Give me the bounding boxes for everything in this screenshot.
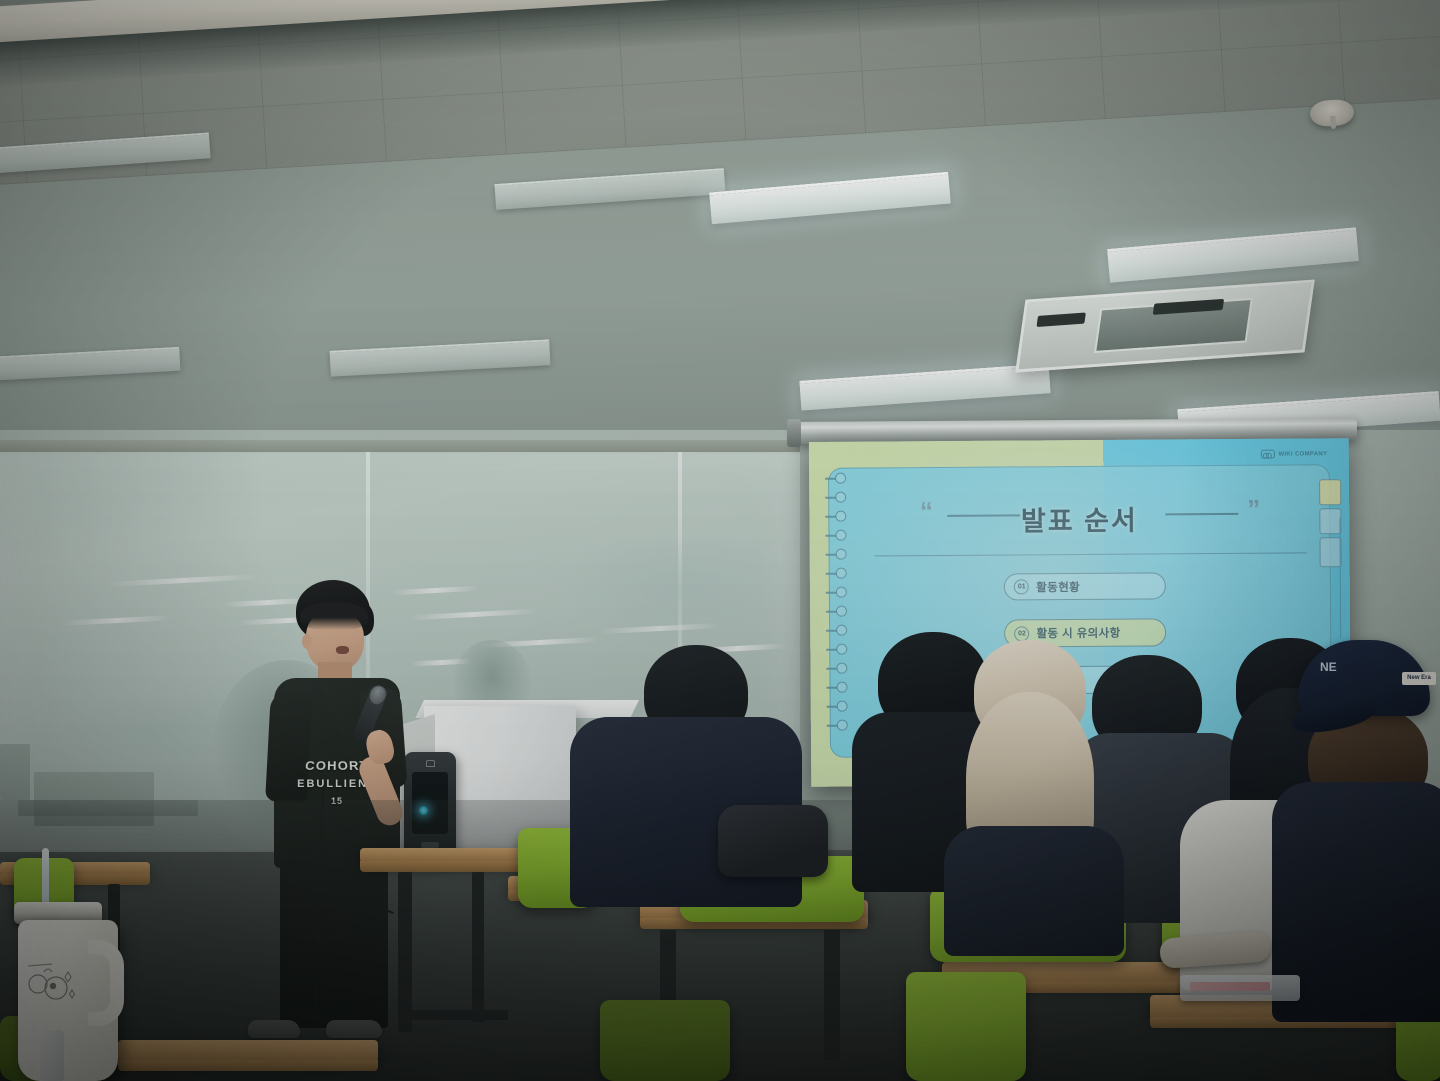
desk-edge — [118, 1060, 378, 1071]
binding-ring-icon — [836, 644, 847, 655]
binding-ring-icon — [836, 682, 847, 693]
attendee-torso — [944, 826, 1124, 956]
binding-ring-icon — [837, 720, 848, 731]
binding-ring-icon — [835, 473, 846, 484]
attendee-7 — [1262, 690, 1440, 1020]
wiki-company-logo-icon: WIKI COMPANY — [1260, 449, 1327, 458]
classroom-chair[interactable] — [906, 972, 1026, 1081]
binding-ring-icon — [836, 663, 847, 674]
desk-frame — [398, 1010, 508, 1020]
pencil-case-contents — [1190, 982, 1270, 991]
linear-ceiling-light — [494, 168, 725, 210]
desk-frame — [398, 872, 412, 1032]
agenda-number-badge: 01 — [1014, 579, 1029, 594]
attendee-3 — [956, 640, 1106, 920]
small-bottle[interactable] — [40, 1030, 64, 1081]
classroom-photo-scene: WIKI COMPANY “ 발표 순서 — [0, 0, 1440, 1081]
ceiling-sprinkler-head — [1309, 98, 1355, 127]
linear-ceiling-light — [799, 363, 1050, 410]
quote-close-icon: ” — [1247, 496, 1260, 522]
classroom-desk — [118, 1040, 378, 1062]
ac-vane — [1036, 312, 1085, 326]
binding-ring-icon — [835, 568, 846, 579]
presenter-mouth — [336, 646, 349, 654]
background-furniture — [0, 744, 30, 800]
linear-ceiling-light — [329, 339, 550, 376]
linear-ceiling-light — [709, 172, 951, 225]
classroom-chair[interactable] — [600, 1000, 730, 1081]
presenter-bangs — [300, 602, 368, 630]
glass-glow — [560, 530, 800, 650]
ceiling — [0, 0, 1440, 470]
panel-brand-icon — [426, 760, 435, 767]
binding-ring-icon — [836, 701, 847, 712]
agenda-number-badge: 02 — [1014, 626, 1029, 641]
agenda-item-label: 활동 시 유의사항 — [1036, 625, 1120, 642]
agenda-item-label: 활동현황 — [1036, 579, 1080, 595]
agenda-item-1: 01 활동현황 — [1004, 572, 1166, 601]
logo-glyph — [1260, 450, 1274, 459]
logo-text: WIKI COMPANY — [1278, 451, 1327, 457]
binding-ring-icon — [835, 549, 846, 560]
desk-frame — [472, 872, 484, 1022]
linear-ceiling-light — [0, 347, 180, 381]
tumbler-straw — [42, 848, 49, 910]
clear-pencil-case — [1180, 975, 1300, 1001]
presenter-ear — [302, 634, 312, 649]
desk-frame — [824, 930, 840, 1060]
tumbler-handle[interactable] — [88, 940, 124, 1026]
tab-bookmark-icon — [1319, 480, 1341, 506]
ceiling-cassette-air-conditioner — [1015, 279, 1315, 372]
tumbler-doodle-sticker — [22, 960, 84, 1012]
cap-brand-label: New Era — [1402, 672, 1436, 685]
slide-title: 발표 순서 — [809, 497, 1349, 540]
binding-ring-icon — [836, 587, 847, 598]
binding-ring-icon — [836, 625, 847, 636]
new-era-logo-icon: NE — [1320, 660, 1332, 674]
black-backpack — [718, 805, 828, 877]
binding-ring-icon — [836, 606, 847, 617]
linear-ceiling-light — [1107, 227, 1359, 283]
